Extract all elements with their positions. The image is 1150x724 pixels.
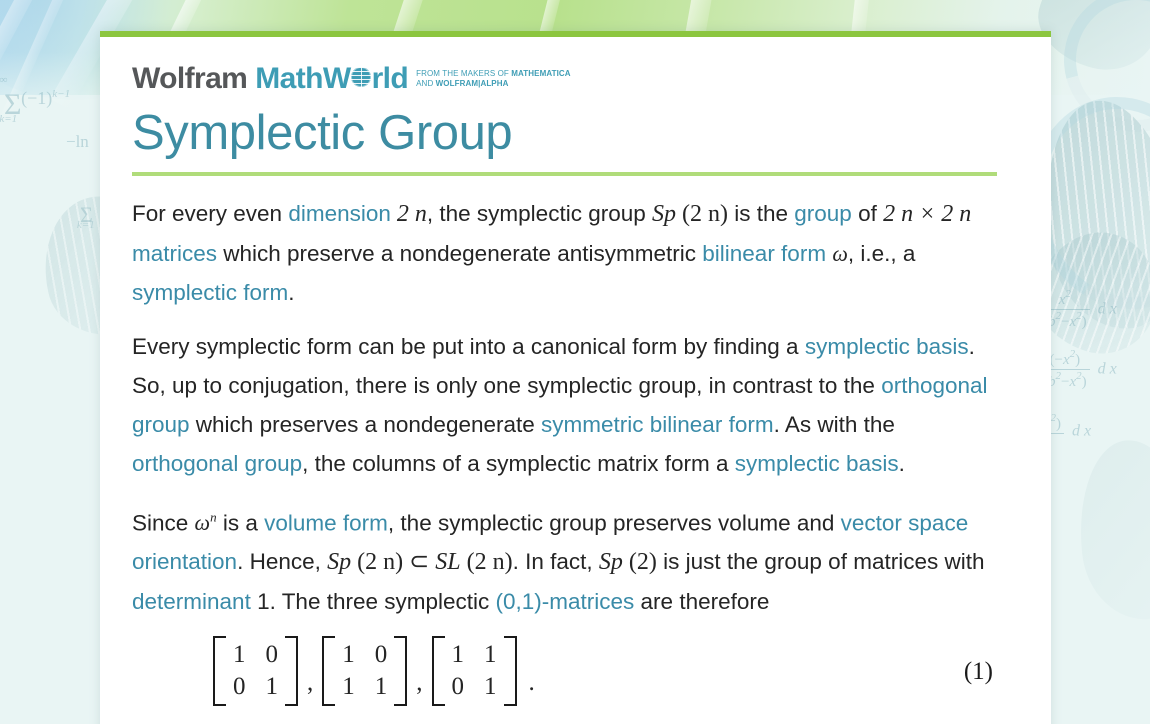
p3-text-5: . In fact, (513, 549, 599, 574)
tagline-prefix-2: and (416, 79, 436, 88)
background-surface-bottomright (1071, 435, 1150, 626)
math-2n: 2 n (391, 201, 427, 227)
math-sp2n-symbol: Sp (327, 549, 351, 575)
tagline-line-2: and Wolfram|Alpha (416, 79, 508, 88)
matrix-1: 1001 (204, 636, 307, 706)
background-formula-negln: −ln (66, 132, 89, 152)
matrix-1-right-bracket (285, 636, 298, 706)
math-omega-symbol: ω (195, 510, 211, 535)
matrix-1-entries: 1001 (226, 636, 285, 706)
math-sp2n-arg: (2 n) (357, 549, 403, 575)
matrix-3-cell-0-1: 1 (484, 640, 497, 670)
logo-mathw-text: MathW (255, 63, 350, 95)
equation-1-body: 1001,1011,1101. (204, 636, 535, 706)
matrix-3-cell-1-0: 0 (452, 672, 465, 702)
matrix-3-left-bracket (432, 636, 445, 706)
p3-text-3: , the symplectic group preserves volume … (388, 510, 841, 535)
matrix-1-cell-0-0: 1 (233, 640, 246, 670)
matrix-3-cell-1-1: 1 (484, 672, 497, 702)
matrix-2-right-bracket (394, 636, 407, 706)
math-sp2-arg: (2) (629, 549, 657, 575)
title-underline-rule (132, 172, 997, 176)
math-sp-subset-sl: Sp (2 n) ⊂ SL (2 n) (327, 549, 512, 575)
matrix-2-cell-1-1: 1 (375, 672, 388, 702)
p3-text-4: . Hence, (237, 549, 327, 574)
matrix-2-cell-0-1: 0 (375, 640, 388, 670)
link-dimension[interactable]: dimension (288, 201, 391, 226)
matrix-2-left-bracket (322, 636, 335, 706)
matrix-3-right-bracket (504, 636, 517, 706)
link-determinant[interactable]: determinant (132, 589, 251, 614)
p1-text-5: which preserve a nondegenerate antisymme… (217, 241, 702, 266)
p1-text-3: is the (728, 201, 794, 226)
matrix-1-cell-0-1: 0 (266, 640, 279, 670)
tagline-prefix-1: From the makers of (416, 69, 511, 78)
p1-text-4: of (852, 201, 883, 226)
link-matrices[interactable]: matrices (132, 241, 217, 266)
paragraph-2: Every symplectic form can be put into a … (132, 327, 997, 483)
p3-text-6: is just the group of matrices with (657, 549, 985, 574)
math-sl-symbol: SL (435, 549, 460, 575)
p2-text-4: . As with the (774, 412, 895, 437)
link-symplectic-basis-2[interactable]: symplectic basis (735, 451, 899, 476)
p3-text-2: is a (217, 510, 265, 535)
link-symmetric-bilinear-form[interactable]: symmetric bilinear form (541, 412, 774, 437)
p1-text-1: For every even (132, 201, 288, 226)
tagline-line-1: From the makers of Mathematica (416, 69, 571, 78)
p3-text-1: Since (132, 510, 195, 535)
matrix-2-cell-0-0: 1 (342, 640, 355, 670)
p2-text-3: which preserves a nondegenerate (190, 412, 541, 437)
paragraph-1: For every even dimension 2 n, the symple… (132, 194, 997, 312)
math-2n-by-2n: 2 n × 2 n (883, 201, 971, 227)
background-formula-integral-1: x2(b2−x2) d x (1040, 288, 1117, 332)
matrix-2-entries: 1011 (335, 636, 394, 706)
p1-text-2: , the symplectic group (427, 201, 652, 226)
background-formula-integral-2: (−x2)(b2−x2) d x (1040, 348, 1117, 392)
matrix-3-cell-0-0: 1 (452, 640, 465, 670)
math-sp2-symbol: Sp (599, 549, 623, 575)
math-sp-2: Sp (2) (599, 549, 657, 575)
matrix-2-cell-1-0: 1 (342, 672, 355, 702)
p2-text-5: , the columns of a symplectic matrix for… (302, 451, 735, 476)
logo-wolfram-text: Wolfram (132, 63, 247, 95)
matrix-1-cell-1-0: 0 (233, 672, 246, 702)
article-body: For every even dimension 2 n, the symple… (132, 194, 997, 724)
logo-tagline: From the makers of Mathematica and Wolfr… (416, 63, 571, 89)
equation-1-number: (1) (964, 652, 997, 691)
logo-rld-text: rld (372, 63, 409, 95)
p3-text-7: 1. The three symplectic (251, 589, 496, 614)
page-title: Symplectic Group (132, 104, 997, 172)
math-sp-symbol: Sp (652, 201, 676, 227)
logo-mathworld-text: MathWrld (255, 63, 408, 95)
matrix-3-entries: 1101 (445, 636, 504, 706)
matrix-3: 1101 (423, 636, 526, 706)
link-symplectic-basis-1[interactable]: symplectic basis (805, 334, 969, 359)
link-orthogonal-group-2[interactable]: orthogonal group (132, 451, 302, 476)
equation-terminator: . (526, 663, 535, 706)
math-omega-p3: ωn (195, 510, 217, 535)
paragraph-3: Since ωn is a volume form, the symplecti… (132, 498, 997, 621)
site-logo[interactable]: Wolfram MathWrld From the makers of Math… (132, 63, 997, 97)
math-subset-operator: ⊂ (409, 549, 429, 575)
math-sl-arg: (2 n) (467, 549, 513, 575)
link-volume-form[interactable]: volume form (264, 510, 388, 535)
matrix-1-cell-1-1: 1 (266, 672, 279, 702)
link-symplectic-form[interactable]: symplectic form (132, 280, 288, 305)
p2-text-1: Every symplectic form can be put into a … (132, 334, 805, 359)
link-bilinear-form[interactable]: bilinear form (702, 241, 826, 266)
p1-text-6: , i.e., a (848, 241, 916, 266)
content-card: Wolfram MathWrld From the makers of Math… (100, 31, 1051, 724)
matrix-2: 1011 (313, 636, 416, 706)
matrix-1-left-bracket (213, 636, 226, 706)
p1-text-7: . (288, 280, 294, 305)
link-group[interactable]: group (794, 201, 852, 226)
link-01-matrices[interactable]: (0,1)-matrices (496, 589, 635, 614)
background-formula-sum: Σ∞k=1(−1)k−1 (4, 88, 96, 122)
p3-text-8: are therefore (634, 589, 769, 614)
math-omega-p1: ω (832, 241, 848, 266)
math-sp-arg: (2 n) (682, 201, 728, 227)
math-2n-by-2n-value: 2 n × 2 n (883, 201, 971, 227)
tagline-mathematica: Mathematica (511, 69, 570, 78)
tagline-wolframalpha: Wolfram|Alpha (436, 79, 509, 88)
p2-text-6: . (899, 451, 905, 476)
equation-1-row: 1001,1011,1101. (1) (132, 636, 997, 706)
math-2n-value: 2 n (397, 201, 427, 227)
math-sp-2n: Sp (2 n) (652, 201, 728, 227)
globe-icon (351, 67, 371, 87)
